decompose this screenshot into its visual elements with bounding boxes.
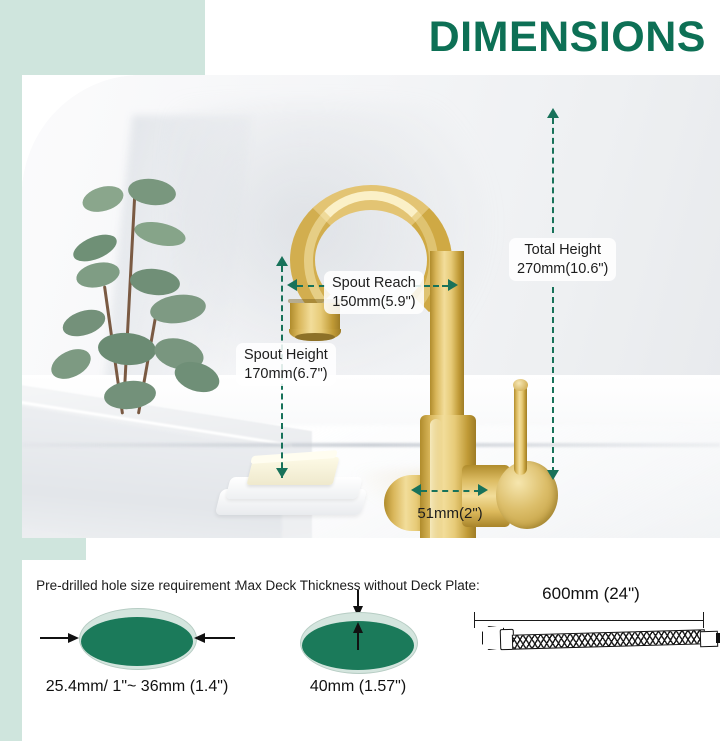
spout-reach-label-line1: Spout Reach [332, 274, 416, 293]
base-width-label: 51mm(2") [400, 505, 500, 522]
mint-corner-block [0, 0, 205, 75]
spec-deck-thickness: Max Deck Thickness without Deck Plate: 4… [244, 560, 472, 719]
deck-arrow-up [353, 622, 363, 648]
total-height-arrow-top [547, 108, 559, 118]
spec-hose-length: 600mm (24") [462, 560, 720, 719]
spec-hole-size: Pre-drilled hole size requirement : 25.4… [22, 560, 252, 719]
faucet-lever-tip [513, 379, 528, 391]
mint-lower-border [0, 560, 22, 741]
spout-reach-arrow-right [448, 279, 458, 291]
mint-divider-band [0, 538, 86, 560]
hole-disc-illustration [79, 608, 195, 668]
spout-height-arrow-top [276, 256, 288, 266]
total-height-line-upper [552, 118, 554, 233]
spout-reach-label-line2: 150mm(5.9") [332, 293, 416, 312]
base-width-line [421, 490, 480, 492]
infographic-canvas: DIMENSIONS [0, 0, 720, 741]
decorative-plant [42, 135, 232, 435]
hose-braided-body [512, 629, 705, 649]
total-height-label: Total Height 270mm(10.6") [509, 238, 616, 281]
hole-width-arrow-right [194, 633, 234, 643]
spout-height-label: Spout Height 170mm(6.7") [236, 343, 336, 386]
faucet-riser-tube [430, 251, 464, 433]
hole-size-heading: Pre-drilled hole size requirement : [36, 578, 238, 593]
total-height-line-lower [552, 287, 554, 473]
deck-thickness-caption: 40mm (1.57") [310, 678, 406, 696]
mint-left-border [0, 0, 22, 560]
faucet-lever-handle[interactable] [514, 383, 527, 475]
hose-illustration [474, 578, 720, 688]
spout-reach-label: Spout Reach 150mm(5.9") [324, 271, 424, 314]
spout-height-label-line1: Spout Height [244, 346, 328, 365]
base-width-arrow-left [411, 484, 421, 496]
base-width-arrow-right [478, 484, 488, 496]
hose-end-tip [716, 633, 720, 643]
total-height-label-line1: Total Height [517, 241, 608, 260]
page-title: DIMENSIONS [429, 16, 706, 59]
spout-height-arrow-bottom [276, 468, 288, 478]
hole-disc-fill [81, 617, 193, 666]
hole-size-caption: 25.4mm/ 1"~ 36mm (1.4") [46, 678, 229, 696]
total-height-arrow-bottom [547, 470, 559, 480]
spout-reach-line-left [297, 285, 325, 287]
spout-height-label-line2: 170mm(6.7") [244, 365, 328, 384]
faucet-spout-opening [295, 333, 335, 341]
specs-row: Pre-drilled hole size requirement : 25.4… [22, 560, 720, 719]
hole-width-arrow-left [40, 633, 80, 643]
total-height-label-line2: 270mm(10.6") [517, 260, 608, 279]
spout-reach-arrow-left [287, 279, 297, 291]
